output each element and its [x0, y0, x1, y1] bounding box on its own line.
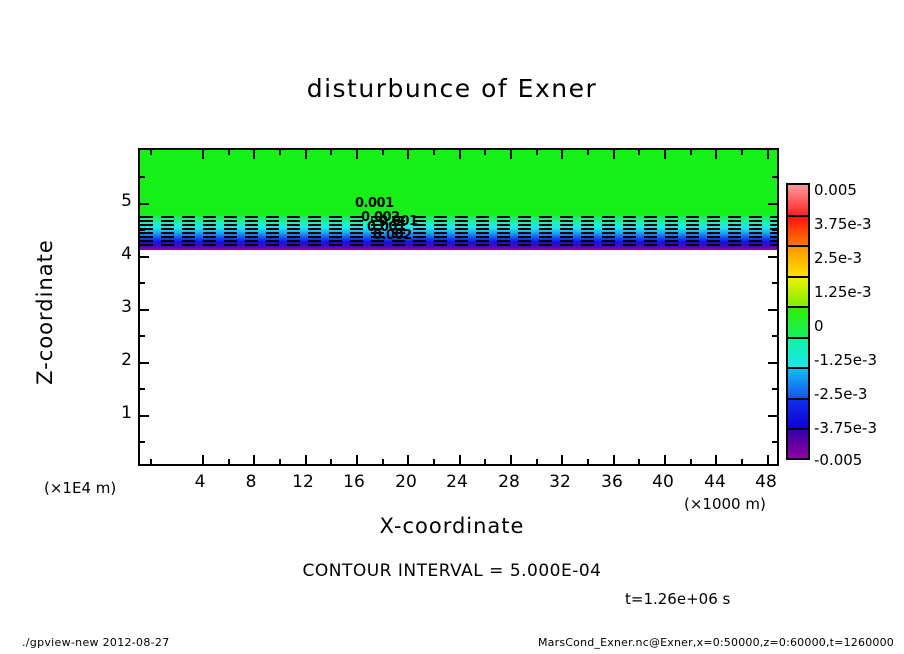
x-tick-minor [690, 459, 692, 464]
x-tick-top-minor [382, 150, 384, 155]
y-tick-right-minor [772, 335, 777, 337]
x-tick-minor [741, 459, 743, 464]
x-tick-label: 16 [343, 472, 365, 492]
colorbar-tick-label: -0.005 [814, 451, 862, 469]
x-tick-top-major [561, 150, 563, 159]
x-tick-major [305, 455, 307, 464]
y-tick-major [140, 309, 149, 311]
x-tick-label: 36 [601, 472, 623, 492]
colorbar-band [788, 399, 808, 430]
x-tick-major [510, 455, 512, 464]
colorbar-divider [788, 337, 808, 339]
x-tick-minor [484, 459, 486, 464]
x-tick-minor [536, 459, 538, 464]
y-tick-major [140, 362, 149, 364]
y-tick-minor [140, 388, 145, 390]
z-axis-unit-label: (×1E4 m) [44, 479, 116, 497]
colorbar-tick-label: -3.75e-3 [814, 419, 877, 437]
colorbar-band [788, 185, 808, 216]
y-tick-label: 5 [112, 191, 132, 211]
colorbar [786, 183, 810, 460]
x-tick-minor [150, 459, 152, 464]
x-tick-minor [433, 459, 435, 464]
field-empty-region [140, 250, 777, 466]
y-tick-right-major [768, 256, 777, 258]
contour-label: 0.001 [379, 214, 418, 229]
y-tick-label: 1 [112, 403, 132, 423]
x-tick-major [459, 455, 461, 464]
x-axis-title: X-coordinate [0, 514, 904, 538]
y-tick-major [140, 256, 149, 258]
contour-line [140, 228, 777, 230]
x-tick-major [664, 455, 666, 464]
colorbar-divider [788, 245, 808, 247]
contour-line [140, 216, 777, 218]
x-tick-label: 24 [446, 472, 468, 492]
colorbar-tick-label: -1.25e-3 [814, 351, 877, 369]
colorbar-divider [788, 367, 808, 369]
x-tick-minor [228, 459, 230, 464]
contour-interval-label: CONTOUR INTERVAL = 5.000E-04 [0, 561, 904, 581]
contour-label: 0.002 [373, 228, 412, 243]
y-tick-right-minor [772, 282, 777, 284]
x-tick-major [253, 455, 255, 464]
x-tick-top-major [305, 150, 307, 159]
colorbar-band [788, 277, 808, 308]
x-tick-label: 28 [498, 472, 520, 492]
y-tick-right-minor [772, 388, 777, 390]
x-tick-label: 4 [195, 472, 206, 492]
x-tick-top-minor [638, 150, 640, 155]
x-tick-top-major [715, 150, 717, 159]
contour-line [140, 220, 777, 222]
y-tick-minor [140, 229, 145, 231]
x-tick-minor [587, 459, 589, 464]
contour-line [140, 232, 777, 234]
contour-line [140, 240, 777, 242]
colorbar-band [788, 429, 808, 458]
field-uniform-region [140, 150, 777, 214]
field-stratified-band [140, 214, 777, 250]
x-tick-top-minor [587, 150, 589, 155]
x-tick-label: 20 [395, 472, 417, 492]
chart-title: disturbunce of Exner [0, 74, 904, 103]
contour-label-group: 0.001 0.002 0.001 0.002 0.001 [355, 196, 435, 248]
x-tick-top-major [613, 150, 615, 159]
x-tick-major [561, 455, 563, 464]
x-tick-top-major [510, 150, 512, 159]
x-tick-top-minor [279, 150, 281, 155]
colorbar-band [788, 307, 808, 338]
colorbar-divider [788, 428, 808, 430]
x-tick-minor [638, 459, 640, 464]
x-tick-top-minor [484, 150, 486, 155]
x-tick-minor [279, 459, 281, 464]
x-tick-top-minor [150, 150, 152, 155]
x-tick-minor [382, 459, 384, 464]
y-tick-minor [140, 176, 145, 178]
footer-source-label: MarsCond_Exner.nc@Exner,x=0:50000,z=0:60… [538, 636, 894, 649]
contour-line [140, 244, 777, 246]
x-tick-label: 12 [292, 472, 314, 492]
colorbar-band [788, 216, 808, 247]
plot-area: 0.001 0.002 0.001 0.002 0.001 [138, 148, 779, 466]
x-tick-top-minor [690, 150, 692, 155]
y-tick-minor [140, 282, 145, 284]
contour-line [140, 224, 777, 226]
colorbar-tick-label: 2.5e-3 [814, 249, 862, 267]
y-tick-label: 2 [112, 350, 132, 370]
x-tick-major [407, 455, 409, 464]
time-label: t=1.26e+06 s [625, 590, 730, 608]
y-tick-right-minor [772, 176, 777, 178]
x-tick-top-major [253, 150, 255, 159]
colorbar-tick-label: 1.25e-3 [814, 283, 872, 301]
x-tick-top-major [459, 150, 461, 159]
x-tick-label: 48 [755, 472, 777, 492]
x-tick-top-minor [330, 150, 332, 155]
x-tick-major [613, 455, 615, 464]
x-tick-major [202, 455, 204, 464]
colorbar-band [788, 368, 808, 399]
colorbar-tick-label: 0 [814, 317, 824, 335]
contour-line [140, 236, 777, 238]
y-tick-minor [140, 441, 145, 443]
y-tick-right-major [768, 415, 777, 417]
y-tick-label: 3 [112, 297, 132, 317]
y-tick-major [140, 203, 149, 205]
x-tick-top-major [407, 150, 409, 159]
y-tick-right-major [768, 203, 777, 205]
x-tick-top-minor [433, 150, 435, 155]
x-axis-unit-label: (×1000 m) [684, 495, 766, 513]
x-tick-top-minor [536, 150, 538, 155]
colorbar-divider [788, 306, 808, 308]
x-tick-minor [330, 459, 332, 464]
colorbar-divider [788, 398, 808, 400]
y-axis-title: Z-coordinate [33, 212, 57, 412]
colorbar-band [788, 246, 808, 277]
y-tick-major [140, 415, 149, 417]
footer-tool-label: ./gpview-new 2012-08-27 [22, 636, 170, 649]
x-tick-top-major [767, 150, 769, 159]
x-tick-label: 32 [549, 472, 571, 492]
contour-label: 0.001 [355, 196, 394, 211]
colorbar-divider [788, 215, 808, 217]
y-tick-right-major [768, 309, 777, 311]
x-tick-major [356, 455, 358, 464]
colorbar-tick-label: -2.5e-3 [814, 385, 867, 403]
y-tick-right-major [768, 362, 777, 364]
x-tick-label: 40 [652, 472, 674, 492]
x-tick-top-minor [228, 150, 230, 155]
x-tick-top-minor [741, 150, 743, 155]
x-tick-major [715, 455, 717, 464]
y-tick-right-minor [772, 441, 777, 443]
y-tick-minor [140, 335, 145, 337]
x-tick-top-major [356, 150, 358, 159]
x-tick-label: 8 [246, 472, 257, 492]
colorbar-divider [788, 276, 808, 278]
x-tick-label: 44 [704, 472, 726, 492]
x-tick-top-major [202, 150, 204, 159]
colorbar-band [788, 338, 808, 369]
x-tick-major [767, 455, 769, 464]
y-tick-label: 4 [112, 244, 132, 264]
colorbar-tick-label: 3.75e-3 [814, 215, 872, 233]
x-tick-top-major [664, 150, 666, 159]
y-tick-right-minor [772, 229, 777, 231]
colorbar-tick-label: 0.005 [814, 181, 857, 199]
